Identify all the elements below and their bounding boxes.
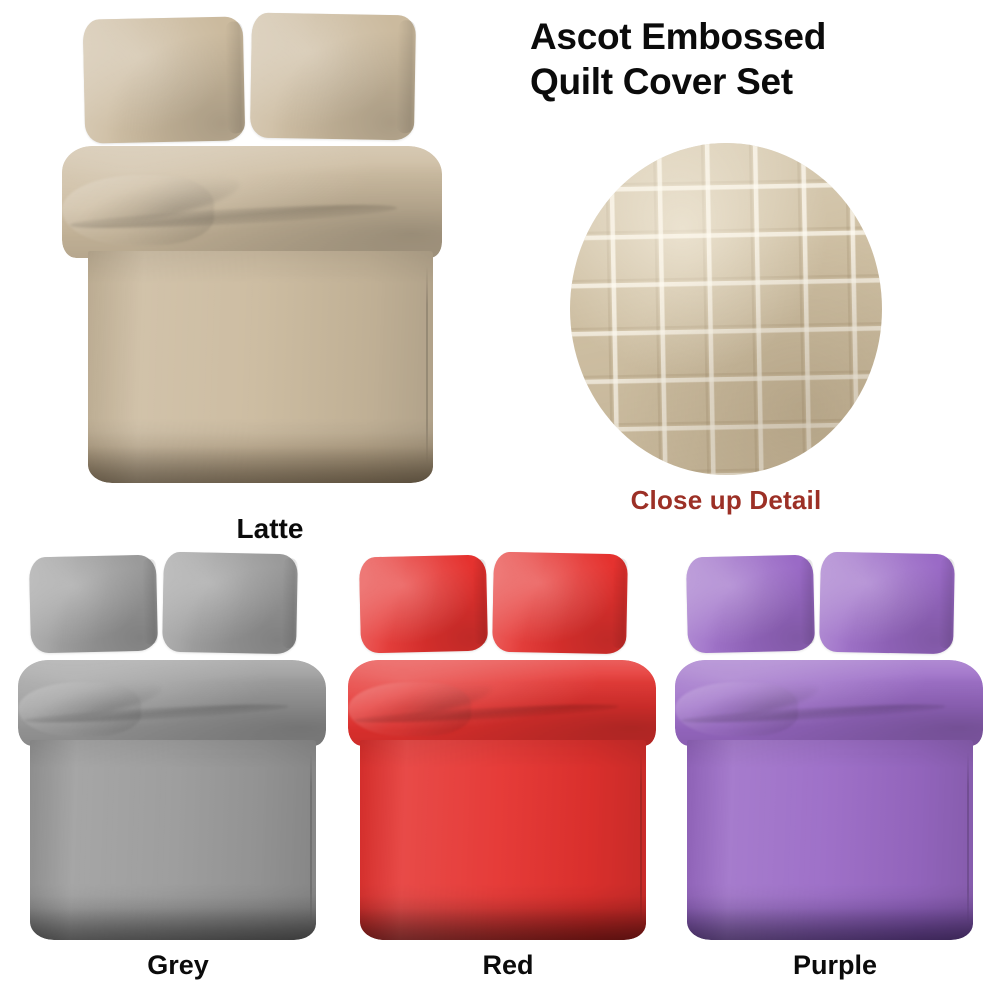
duvet-side-seam xyxy=(310,752,312,924)
duvet-side-seam xyxy=(640,752,642,924)
pillow-edge-shadow xyxy=(225,21,245,133)
pillow-highlight xyxy=(83,16,246,143)
duvet-folded-top-purple xyxy=(675,660,983,746)
pillow-highlight xyxy=(29,555,158,654)
pillow-highlight xyxy=(819,552,955,655)
closeup-shading xyxy=(570,143,882,475)
page-title: Ascot Embossed Quilt Cover Set xyxy=(530,14,950,104)
duvet-top-sheen xyxy=(348,660,656,746)
duvet-side-seam xyxy=(967,752,969,924)
pillow-highlight xyxy=(359,555,488,654)
duvet-folded-top-red xyxy=(348,660,656,746)
color-label-latte: Latte xyxy=(60,513,480,545)
pillow-edge-shadow xyxy=(396,20,416,133)
pillow-edge-shadow xyxy=(281,558,297,648)
pillow-right-purple xyxy=(819,552,955,655)
pillow-left-purple xyxy=(686,555,815,654)
closeup-swatch xyxy=(570,143,882,475)
duvet-bottom-shadow xyxy=(360,908,646,940)
duvet-top-sheen xyxy=(18,660,326,746)
pillow-right-grey xyxy=(162,552,298,655)
pillow-edge-shadow xyxy=(611,558,627,648)
product-photo-latte: Latte xyxy=(60,8,480,498)
pillow-edge-shadow xyxy=(472,558,488,645)
duvet-body-latte xyxy=(88,251,433,483)
duvet-folded-top-latte xyxy=(62,146,442,258)
duvet-top-sheen xyxy=(675,660,983,746)
duvet-folded-top-grey xyxy=(18,660,326,746)
pillow-highlight xyxy=(250,13,416,141)
product-photo-purple: Purple xyxy=(675,548,995,968)
pillow-left-grey xyxy=(29,555,158,654)
product-image-canvas: Ascot Embossed Quilt Cover Set Latte xyxy=(0,0,1000,1000)
pillow-highlight xyxy=(492,552,628,655)
color-label-grey: Grey xyxy=(18,950,338,981)
closeup-caption: Close up Detail xyxy=(570,485,882,516)
duvet-body-red xyxy=(360,740,646,940)
product-photo-grey: Grey xyxy=(18,548,338,968)
duvet-body-purple xyxy=(687,740,973,940)
pillow-edge-shadow xyxy=(142,558,158,645)
color-label-red: Red xyxy=(348,950,668,981)
color-label-purple: Purple xyxy=(675,950,995,981)
duvet-bottom-shadow xyxy=(30,908,316,940)
duvet-top-sheen xyxy=(62,146,442,258)
pillow-left-red xyxy=(359,555,488,654)
title-line-1: Ascot Embossed xyxy=(530,16,826,57)
pillow-left-latte xyxy=(83,16,246,143)
duvet-bottom-shadow xyxy=(687,908,973,940)
pillow-right-latte xyxy=(250,13,416,141)
pillow-highlight xyxy=(686,555,815,654)
pillow-edge-shadow xyxy=(938,558,954,648)
pillow-highlight xyxy=(162,552,298,655)
pillow-right-red xyxy=(492,552,628,655)
duvet-side-seam xyxy=(426,265,428,465)
title-line-2: Quilt Cover Set xyxy=(530,59,950,104)
closeup-fabric-circle xyxy=(570,143,882,475)
pillow-edge-shadow xyxy=(799,558,815,645)
duvet-bottom-shadow xyxy=(88,446,433,483)
duvet-body-grey xyxy=(30,740,316,940)
product-photo-red: Red xyxy=(348,548,668,968)
